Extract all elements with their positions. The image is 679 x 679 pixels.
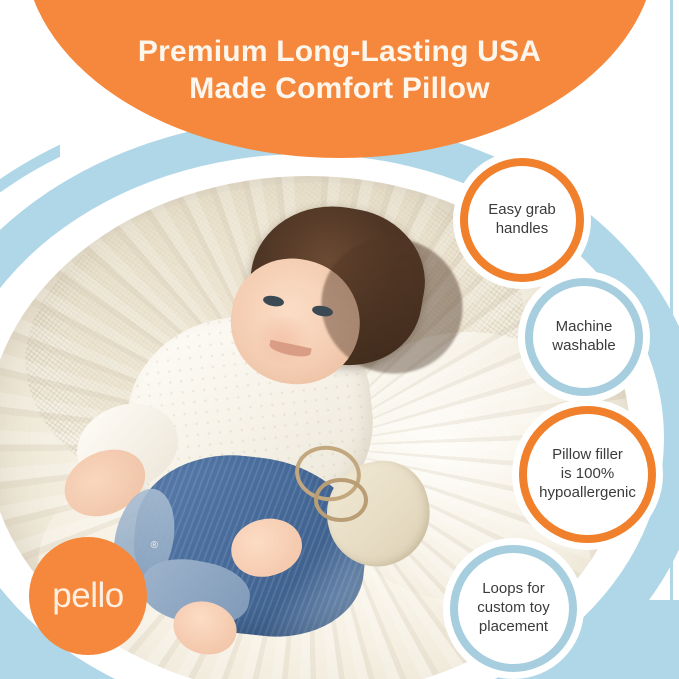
right-edge-line	[670, 0, 673, 679]
callout-hypoallergenic-filler: Pillow filler is 100% hypoallergenic	[519, 406, 656, 543]
callout-easy-grab-handles: Easy grab handles	[460, 158, 584, 282]
callout-machine-washable: Machine washable	[525, 278, 643, 396]
callout-toy-loops: Loops for custom toy placement	[450, 545, 577, 672]
wooden-teether-ring-2	[314, 478, 367, 522]
callout-toy-loops-label: Loops for custom toy placement	[469, 580, 558, 637]
page-title: Premium Long-Lasting USA Made Comfort Pi…	[0, 34, 679, 107]
page-title-line-2: Made Comfort Pillow	[0, 71, 679, 108]
callout-hypoallergenic-filler-label: Pillow filler is 100% hypoallergenic	[531, 446, 644, 503]
page-title-line-1: Premium Long-Lasting USA	[0, 34, 679, 71]
product-infographic: Premium Long-Lasting USA Made Comfort Pi…	[0, 0, 679, 679]
brand-logo: pello ®	[29, 537, 147, 655]
callout-machine-washable-label: Machine washable	[544, 318, 623, 356]
callout-easy-grab-handles-label: Easy grab handles	[480, 201, 564, 239]
registered-trademark-icon: ®	[151, 540, 158, 551]
brand-logo-text: pello	[52, 576, 123, 616]
